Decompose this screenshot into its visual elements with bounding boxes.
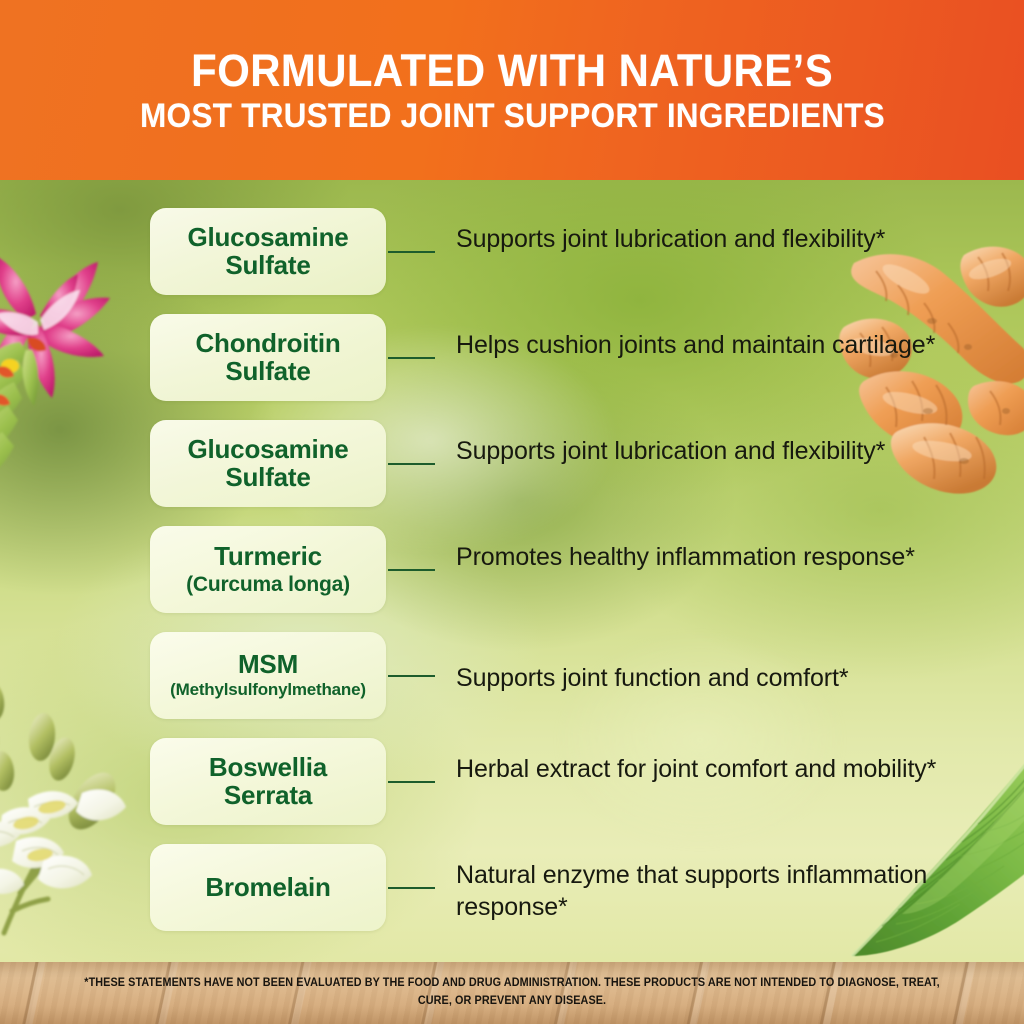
connector-line-2: [388, 357, 435, 359]
ingredient-pill-3[interactable]: Glucosamine Sulfate: [150, 420, 386, 507]
connector-line-5: [388, 675, 435, 677]
header-title-line2: MOST TRUSTED JOINT SUPPORT INGREDIENTS: [140, 99, 885, 133]
ingredient-pill-5[interactable]: MSM (Methylsulfonylmethane): [150, 632, 386, 719]
ingredient-name-2b: Sulfate: [225, 358, 310, 386]
ingredient-pill-7[interactable]: Bromelain: [150, 844, 386, 931]
ingredient-name-1b: Sulfate: [225, 252, 310, 280]
connector-line-1: [388, 251, 435, 253]
ingredient-pill-4[interactable]: Turmeric (Curcuma longa): [150, 526, 386, 613]
ingredient-description-5: Supports joint function and comfort*: [456, 663, 976, 695]
ingredient-description-1: Supports joint lubrication and flexibili…: [456, 224, 956, 256]
main-content-area: Glucosamine Sulfate Supports joint lubri…: [0, 180, 1024, 962]
ingredient-pill-6[interactable]: Boswellia Serrata: [150, 738, 386, 825]
ingredient-name-1: Glucosamine: [187, 224, 348, 252]
ingredient-list: Glucosamine Sulfate Supports joint lubri…: [0, 180, 1024, 962]
ingredient-name-3: Glucosamine: [187, 436, 348, 464]
ingredient-pill-1[interactable]: Glucosamine Sulfate: [150, 208, 386, 295]
ingredient-description-4: Promotes healthy inflammation response*: [456, 542, 976, 574]
header-title-line1: FORMULATED WITH NATURE’S: [191, 48, 833, 93]
disclaimer-line-2: CURE, OR PREVENT ANY DISEASE.: [418, 993, 606, 1011]
connector-line-3: [388, 463, 435, 465]
ingredient-subname-4: (Curcuma longa): [186, 573, 350, 596]
connector-line-4: [388, 569, 435, 571]
header-text-block: FORMULATED WITH NATURE’S MOST TRUSTED JO…: [0, 0, 1024, 180]
connector-line-7: [388, 887, 435, 889]
ingredient-description-6: Herbal extract for joint comfort and mob…: [456, 754, 956, 786]
ingredient-name-3b: Sulfate: [225, 464, 310, 492]
ingredient-description-7: Natural enzyme that supports inflammatio…: [456, 860, 956, 924]
disclaimer-line-1: *THESE STATEMENTS HAVE NOT BEEN EVALUATE…: [84, 975, 939, 993]
ingredient-description-2: Helps cushion joints and maintain cartil…: [456, 330, 956, 362]
infographic-page: FORMULATED WITH NATURE’S MOST TRUSTED JO…: [0, 0, 1024, 1024]
ingredient-name-6b: Serrata: [224, 782, 312, 810]
connector-line-6: [388, 781, 435, 783]
ingredient-description-3: Supports joint lubrication and flexibili…: [456, 436, 956, 468]
ingredient-name-4: Turmeric: [214, 543, 322, 571]
ingredient-name-5: MSM: [238, 651, 298, 679]
ingredient-name-7: Bromelain: [205, 874, 330, 902]
ingredient-name-6: Boswellia: [209, 754, 327, 782]
ingredient-name-2: Chondroitin: [195, 330, 340, 358]
ingredient-subname-5: (Methylsulfonylmethane): [170, 681, 366, 700]
fda-disclaimer: *THESE STATEMENTS HAVE NOT BEEN EVALUATE…: [31, 962, 994, 1024]
ingredient-pill-2[interactable]: Chondroitin Sulfate: [150, 314, 386, 401]
wood-footer: *THESE STATEMENTS HAVE NOT BEEN EVALUATE…: [0, 962, 1024, 1024]
header-banner: FORMULATED WITH NATURE’S MOST TRUSTED JO…: [0, 0, 1024, 180]
